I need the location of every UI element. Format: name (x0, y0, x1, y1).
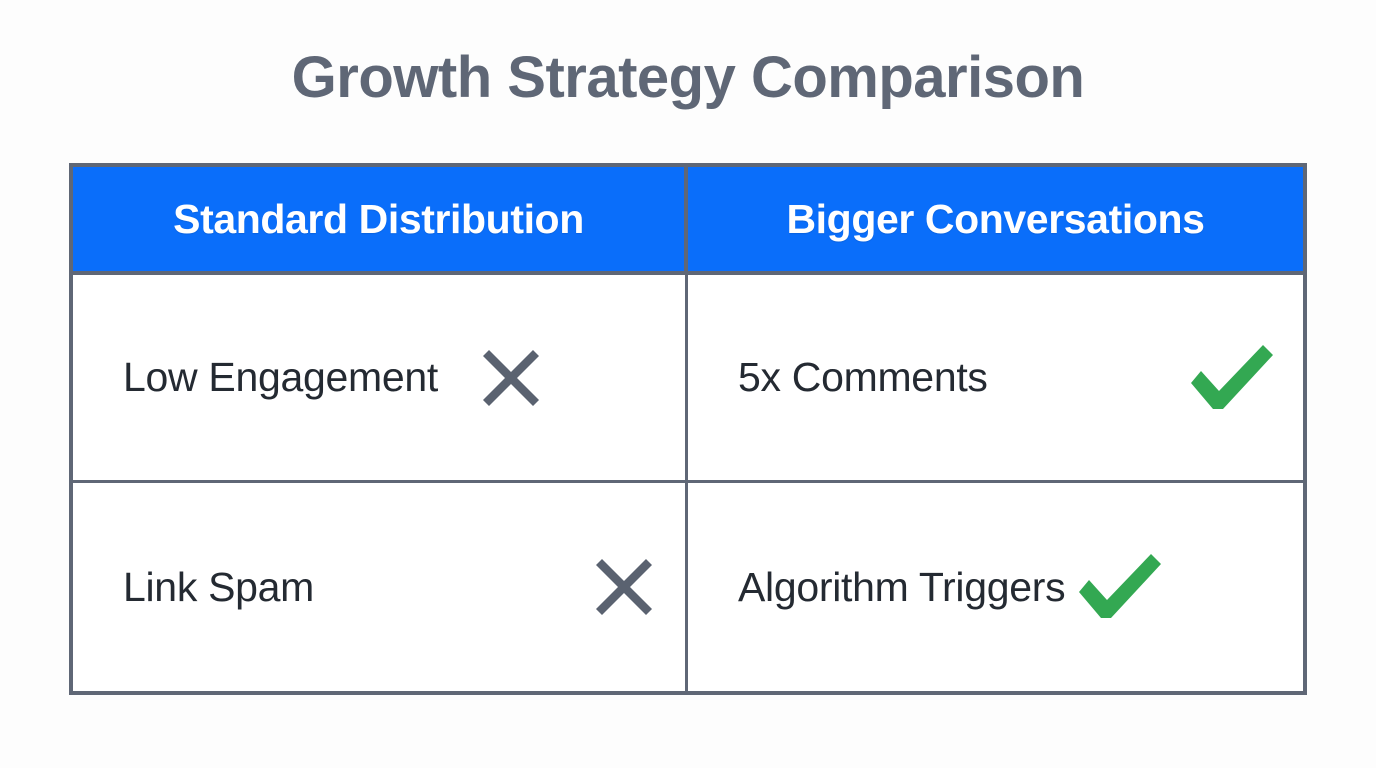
cell-label: Low Engagement (123, 354, 438, 401)
page-title: Growth Strategy Comparison (0, 46, 1376, 110)
cell-label: Algorithm Triggers (738, 564, 1065, 611)
table-header-cell-bigger-conversations: Bigger Conversations (688, 167, 1303, 271)
column-header-label: Bigger Conversations (786, 196, 1204, 243)
table-header-row: Standard Distribution Bigger Conversatio… (73, 167, 1303, 275)
cell-5x-comments: 5x Comments (688, 275, 1303, 480)
check-icon (1079, 552, 1161, 622)
cell-label: 5x Comments (738, 354, 988, 401)
cell-link-spam: Link Spam (73, 483, 688, 691)
comparison-table-slide: Growth Strategy Comparison Standard Dist… (0, 0, 1376, 768)
cross-icon (593, 556, 655, 618)
comparison-table: Standard Distribution Bigger Conversatio… (69, 163, 1307, 695)
table-header-cell-standard-distribution: Standard Distribution (73, 167, 688, 271)
cross-icon (480, 347, 542, 409)
table-row: Low Engagement 5x Comments (73, 275, 1303, 483)
check-icon (1191, 343, 1273, 413)
cell-algorithm-triggers: Algorithm Triggers (688, 483, 1303, 691)
table-row: Link Spam Algorithm Triggers (73, 483, 1303, 691)
column-header-label: Standard Distribution (173, 196, 584, 243)
cell-label: Link Spam (123, 564, 314, 611)
cell-low-engagement: Low Engagement (73, 275, 688, 480)
